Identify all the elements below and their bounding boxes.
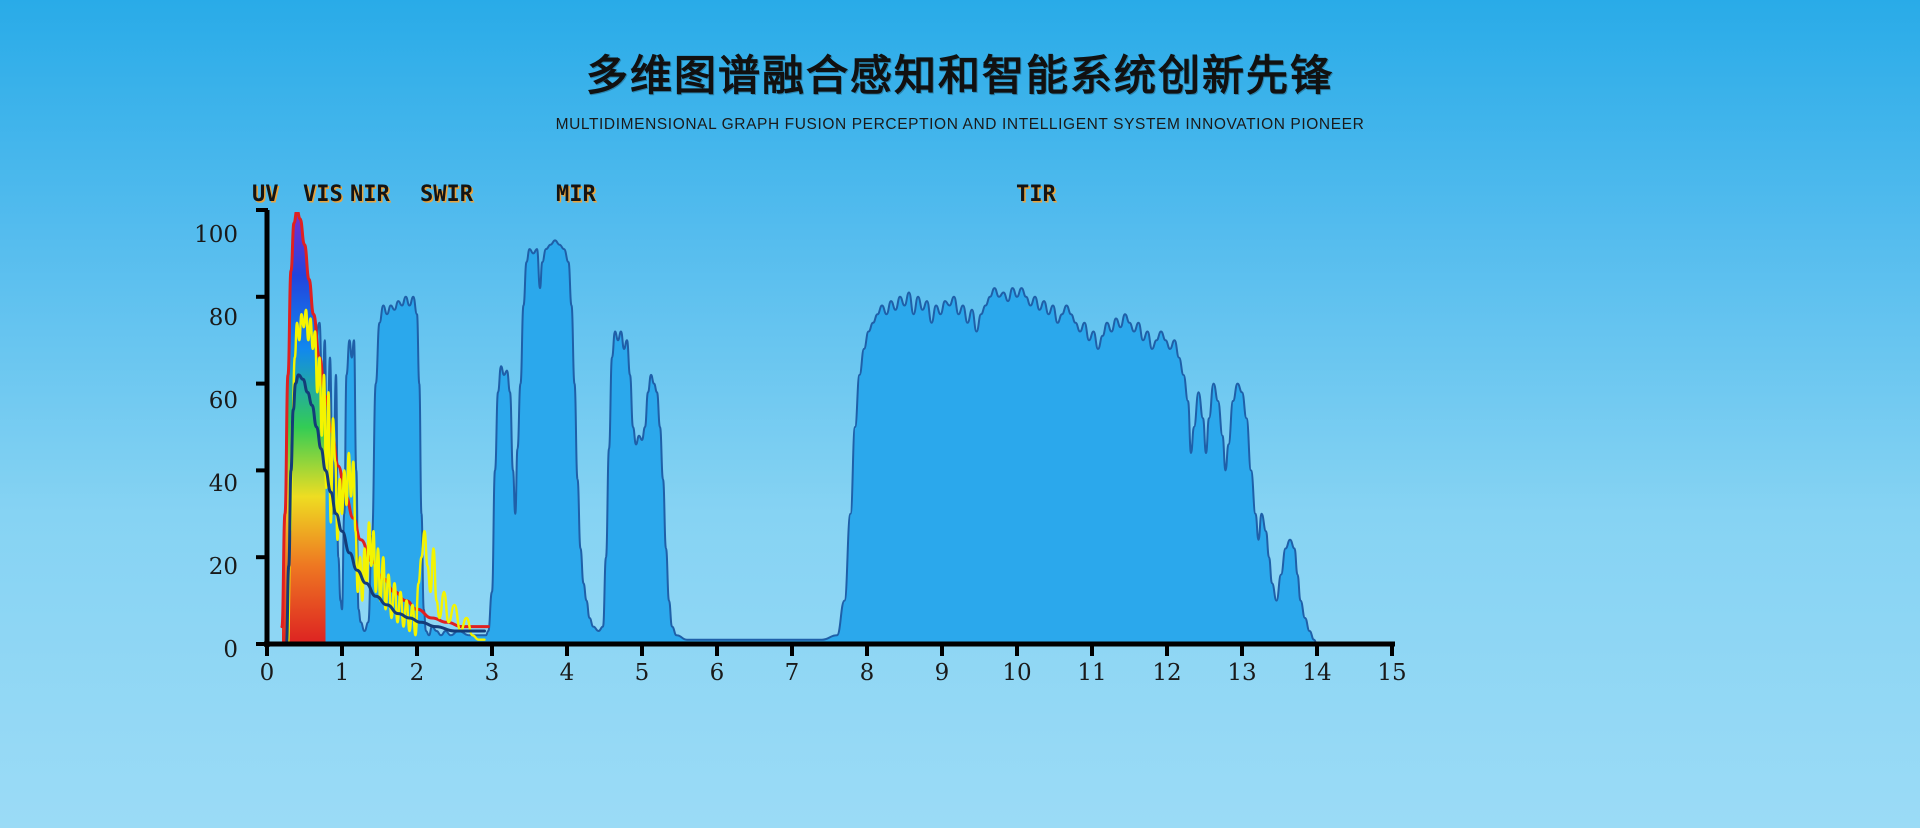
- x-tick-9: 9: [922, 660, 962, 686]
- page-subtitle: MULTIDIMENSIONAL GRAPH FUSION PERCEPTION…: [0, 116, 1920, 134]
- x-tick-4: 4: [547, 660, 587, 686]
- x-tick-7: 7: [772, 660, 812, 686]
- series-path-0: [267, 240, 1317, 644]
- x-tick-15: 15: [1372, 660, 1412, 686]
- page-header: 多维图谱融合感知和智能系统创新先锋 MULTIDIMENSIONAL GRAPH…: [0, 0, 1920, 134]
- band-label-uv: UV: [252, 182, 279, 207]
- y-tick-0: 0: [178, 637, 238, 663]
- y-tick-20: 20: [178, 554, 238, 580]
- plot-canvas: [0, 172, 1920, 672]
- spectrum-chart: UV VIS NIR SWIR MIR TIR 100 80 60 40 20 …: [0, 172, 1920, 672]
- x-tick-13: 13: [1222, 660, 1262, 686]
- x-tick-11: 11: [1072, 660, 1112, 686]
- x-tick-2: 2: [397, 660, 437, 686]
- band-label-nir: NIR: [350, 182, 390, 207]
- x-tick-6: 6: [697, 660, 737, 686]
- series-layer: [267, 210, 1317, 644]
- y-tick-80: 80: [178, 305, 238, 331]
- band-label-swir: SWIR: [420, 182, 473, 207]
- y-tick-60: 60: [178, 388, 238, 414]
- band-label-tir: TIR: [1016, 182, 1056, 207]
- x-tick-5: 5: [622, 660, 662, 686]
- band-label-vis: VIS: [303, 182, 343, 207]
- x-tick-8: 8: [847, 660, 887, 686]
- x-tick-12: 12: [1147, 660, 1187, 686]
- x-tick-3: 3: [472, 660, 512, 686]
- x-tick-1: 1: [322, 660, 362, 686]
- page-title: 多维图谱融合感知和智能系统创新先锋: [0, 52, 1920, 100]
- y-tick-40: 40: [178, 471, 238, 497]
- band-label-mir: MIR: [556, 182, 596, 207]
- x-tick-10: 10: [997, 660, 1037, 686]
- x-tick-0: 0: [247, 660, 287, 686]
- y-tick-100: 100: [178, 222, 238, 248]
- x-tick-14: 14: [1297, 660, 1337, 686]
